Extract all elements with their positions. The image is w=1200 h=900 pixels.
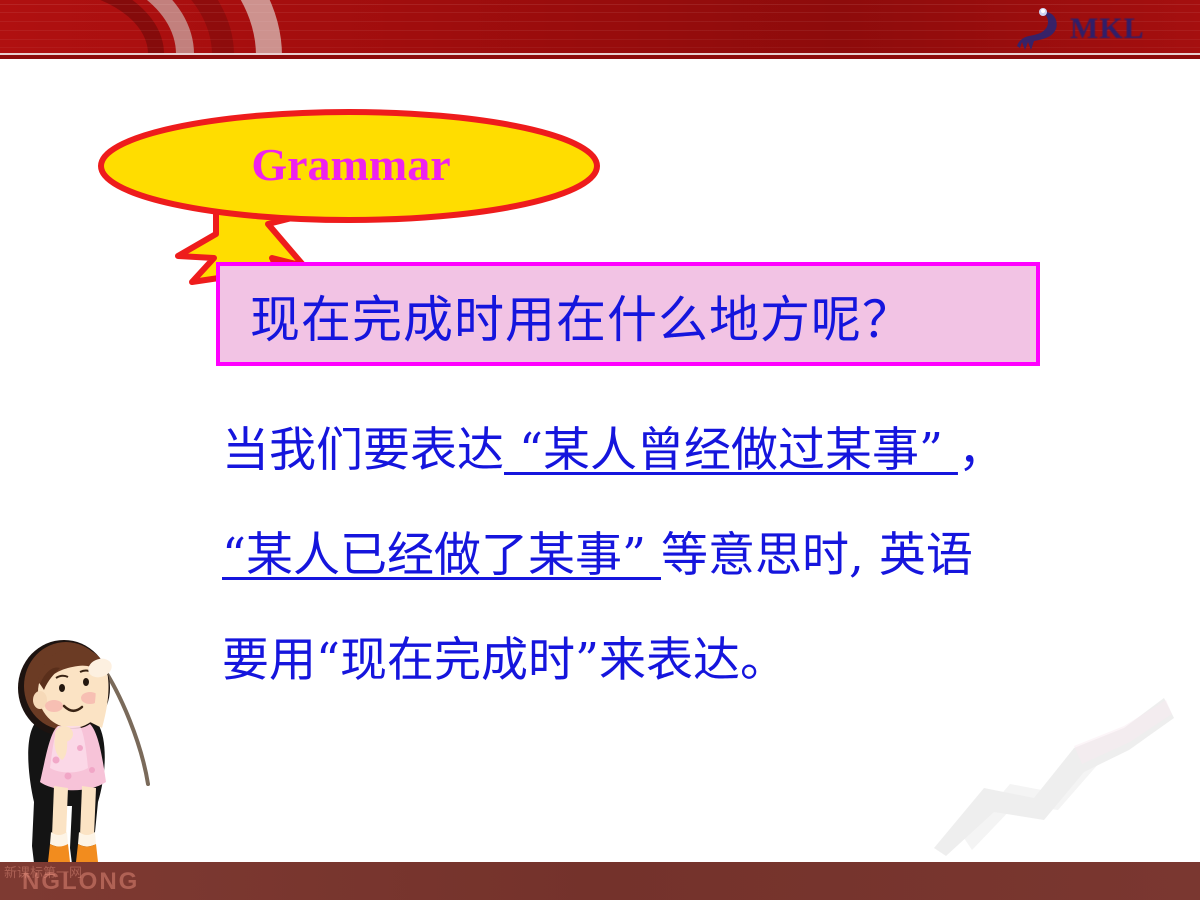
- header-band: MKL: [0, 0, 1200, 56]
- body-plain-text: 要用“现在完成时”来表达。: [222, 633, 787, 688]
- cartoon-girl-illustration: [2, 636, 172, 882]
- question-box: 现在完成时用在什么地方呢？: [216, 262, 1040, 366]
- header-rule-dark: [0, 55, 1200, 59]
- dinosaur-icon: [1012, 8, 1070, 52]
- body-plain-text: ，: [958, 423, 1005, 478]
- brand-logo: MKL: [1012, 4, 1172, 54]
- logo-text: MKL: [1070, 12, 1145, 46]
- body-line: “某人已经做了某事” 等意思时, 英语: [222, 503, 1142, 608]
- footer-bar: 新课标第一网 NGLONG: [0, 862, 1200, 900]
- footer-gradient: [0, 862, 1200, 900]
- body-underlined-phrase: “某人曾经做过某事”: [504, 423, 958, 478]
- body-line: 当我们要表达 “某人曾经做过某事” ，: [222, 398, 1142, 503]
- body-paragraph: 当我们要表达 “某人曾经做过某事” ， “某人已经做了某事” 等意思时, 英语 …: [222, 398, 1142, 713]
- footer-watermark: NGLONG: [22, 868, 139, 896]
- body-plain-text: 等意思时, 英语: [661, 528, 973, 583]
- slide-canvas: MKL Grammar 现在完成时用在什么地方呢？ 当我们要表达 “某人曾经做过…: [0, 0, 1200, 900]
- corner-watermark-graphic: [924, 688, 1194, 858]
- body-plain-text: 当我们要表达: [222, 423, 504, 478]
- body-line: 要用“现在完成时”来表达。: [222, 608, 1142, 713]
- question-text: 现在完成时用在什么地方呢？: [250, 280, 913, 352]
- body-underlined-phrase: “某人已经做了某事”: [222, 528, 661, 583]
